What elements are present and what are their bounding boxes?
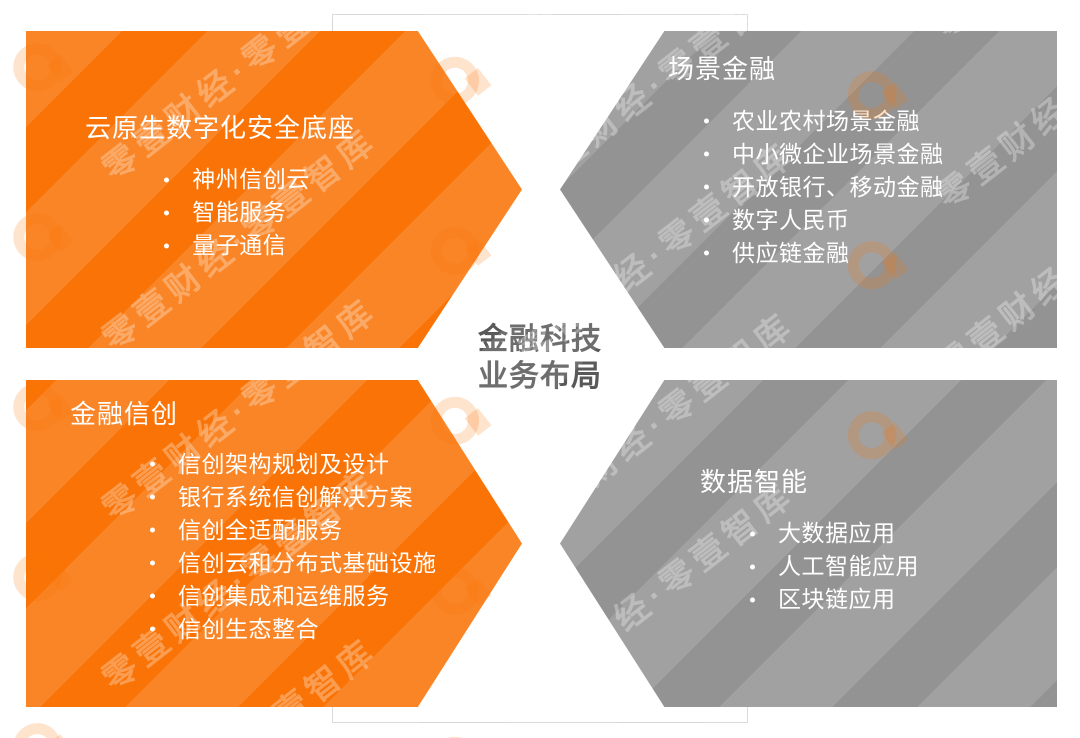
lingyi-logo-icon xyxy=(4,713,71,738)
panel-title: 场景金融 xyxy=(668,53,776,86)
list-item: 区块链应用 xyxy=(740,588,919,611)
center-title-line-1: 金融科技 xyxy=(455,322,625,359)
list-item: 信创生态整合 xyxy=(140,618,437,641)
center-title-line-2: 业务布局 xyxy=(455,359,625,396)
list-item: 信创云和分布式基础设施 xyxy=(140,552,437,575)
panel-content: 数据智能 大数据应用 人工智能应用 区块链应用 xyxy=(560,380,1057,707)
list-item: 神州信创云 xyxy=(154,168,310,191)
list-item: 信创架构规划及设计 xyxy=(140,453,437,476)
panel-cloud-native-base[interactable]: 云原生数字化安全底座 神州信创云 智能服务 量子通信 xyxy=(26,31,522,348)
center-title: 金融科技 业务布局 xyxy=(455,322,625,395)
list-item: 开放银行、移动金融 xyxy=(694,176,944,199)
bullet-list: 神州信创云 智能服务 量子通信 xyxy=(154,158,310,267)
panel-title: 金融信创 xyxy=(70,398,178,431)
panel-scenario-finance[interactable]: 场景金融 农业农村场景金融 中小微企业场景金融 开放银行、移动金融 数字人民币 … xyxy=(560,31,1057,348)
panel-financial-xinchuang[interactable]: 金融信创 信创架构规划及设计 银行系统信创解决方案 信创全适配服务 信创云和分布… xyxy=(26,380,522,707)
list-item: 银行系统信创解决方案 xyxy=(140,486,437,509)
bullet-list: 农业农村场景金融 中小微企业场景金融 开放银行、移动金融 数字人民币 供应链金融 xyxy=(694,100,944,275)
panel-content: 云原生数字化安全底座 神州信创云 智能服务 量子通信 xyxy=(26,31,522,348)
list-item: 农业农村场景金融 xyxy=(694,110,944,133)
panel-title: 云原生数字化安全底座 xyxy=(85,112,355,145)
list-item: 量子通信 xyxy=(154,234,310,257)
panel-title: 数据智能 xyxy=(700,466,808,499)
list-item: 信创集成和运维服务 xyxy=(140,585,437,608)
bullet-list: 信创架构规划及设计 银行系统信创解决方案 信创全适配服务 信创云和分布式基础设施… xyxy=(140,443,437,651)
lingyi-logo-icon xyxy=(421,727,488,738)
panel-content: 金融信创 信创架构规划及设计 银行系统信创解决方案 信创全适配服务 信创云和分布… xyxy=(26,380,522,707)
list-item: 智能服务 xyxy=(154,201,310,224)
diagram-canvas: 云原生数字化安全底座 神州信创云 智能服务 量子通信 场景金融 农业农村场景金融… xyxy=(0,0,1080,738)
list-item: 供应链金融 xyxy=(694,242,944,265)
panel-content: 场景金融 农业农村场景金融 中小微企业场景金融 开放银行、移动金融 数字人民币 … xyxy=(560,31,1057,348)
list-item: 中小微企业场景金融 xyxy=(694,143,944,166)
list-item: 信创全适配服务 xyxy=(140,519,437,542)
panel-data-intelligence[interactable]: 数据智能 大数据应用 人工智能应用 区块链应用 xyxy=(560,380,1057,707)
list-item: 人工智能应用 xyxy=(740,555,919,578)
bullet-list: 大数据应用 人工智能应用 区块链应用 xyxy=(740,512,919,621)
list-item: 大数据应用 xyxy=(740,522,919,545)
list-item: 数字人民币 xyxy=(694,209,944,232)
